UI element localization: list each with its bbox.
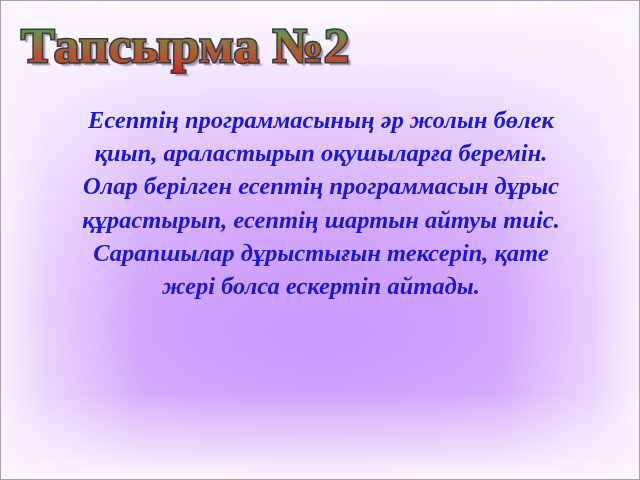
presentation-slide: Тапсырма №2 Тапсырма №2 Есептің программ… xyxy=(0,0,640,480)
body-line: құрастырып, есептің шартын айтуы тиіс. xyxy=(45,204,597,237)
wordart-title-fill: Тапсырма №2 xyxy=(21,18,350,73)
body-line: жері болса ескертіп айтады. xyxy=(45,270,597,303)
wordart-title: Тапсырма №2 Тапсырма №2 xyxy=(21,19,350,73)
body-line: Олар берілген есептің программасын дұрыс xyxy=(45,170,597,203)
body-line: Сарапшылар дұрыстығын тексеріп, қате xyxy=(45,237,597,270)
body-line: Есептің программасының әр жолын бөлек xyxy=(45,104,597,137)
body-line: қиып, араластырып оқушыларға беремін. xyxy=(45,137,597,170)
slide-title: Тапсырма №2 Тапсырма №2 xyxy=(21,19,441,81)
slide-body-text: Есептің программасының әр жолын бөлек қи… xyxy=(45,104,597,303)
